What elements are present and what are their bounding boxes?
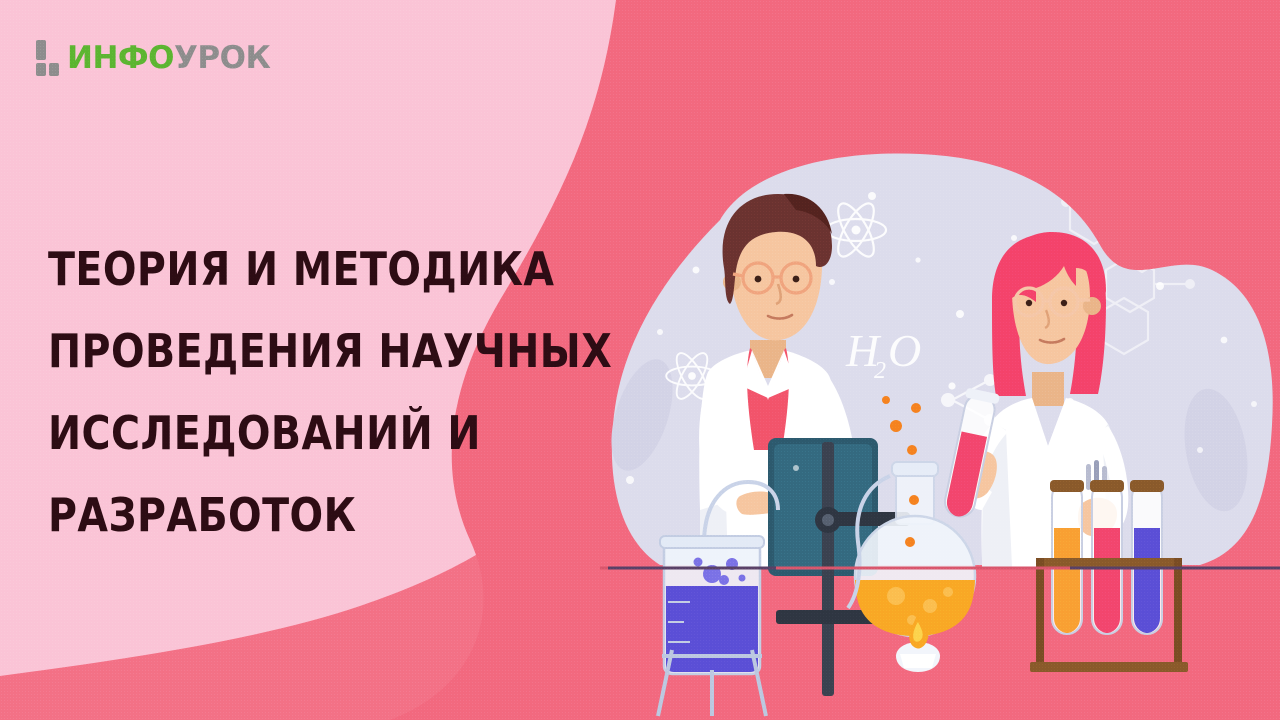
female-eye-right [1061,300,1067,306]
logo-mark-icon [36,40,60,76]
male-eye-right [793,276,800,283]
table-surface [600,564,1280,572]
logo-text-gray: УРОК [174,40,270,76]
logo-text-green: ИНФО [67,40,174,76]
h2o-o: O [888,325,921,376]
title-line-1: ТЕОРИЯ И МЕТОДИКА [48,228,495,310]
rack-leg-left [1036,558,1044,670]
rack-bottom-bar [1030,662,1188,672]
male-eye-left [755,276,762,283]
test-tube-purple [1130,480,1164,634]
page-title: ТЕОРИЯ И МЕТОДИКА ПРОВЕДЕНИЯ НАУЧНЫХ ИСС… [48,228,495,556]
test-tube-pink [1090,480,1124,634]
beaker-liquid [666,586,758,672]
title-line-4: РАЗРАБОТОК [48,474,495,556]
logo-wordmark: ИНФОУРОК [67,43,270,74]
female-eye-left [1026,300,1032,306]
title-line-3: ИССЛЕДОВАНИЙ И [48,392,495,474]
h2o-sub: 2 [874,358,886,384]
slide-canvas: ИНФОУРОК ТЕОРИЯ И МЕТОДИКА ПРОВЕДЕНИЯ НА… [0,0,1280,720]
test-tube-orange [1050,480,1084,634]
infourok-logo[interactable]: ИНФОУРОК [36,40,270,76]
laboratory-illustration: H 2 O [600,150,1280,720]
title-line-2: ПРОВЕДЕНИЯ НАУЧНЫХ [48,310,495,392]
rack-leg-right [1174,558,1182,670]
